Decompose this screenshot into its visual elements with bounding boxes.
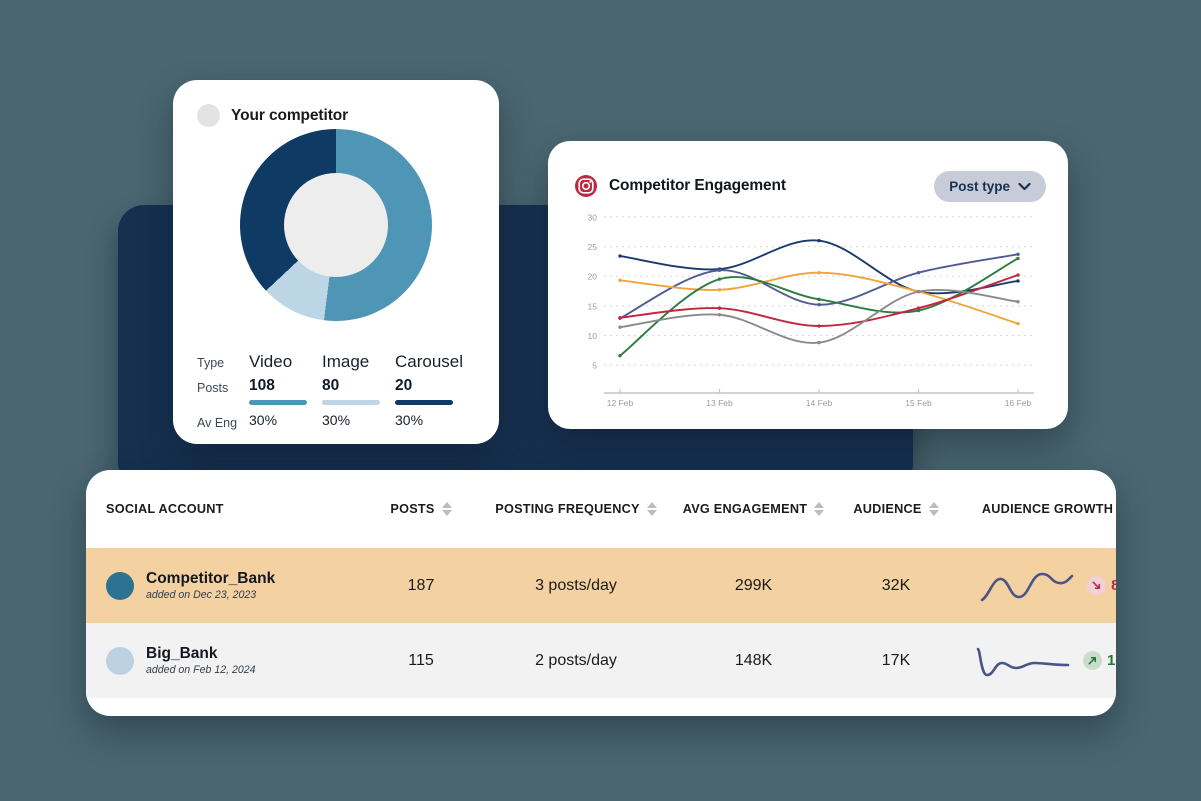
growth-value: 15% bbox=[1107, 652, 1116, 669]
stats-row-type: Type Video Image Carousel bbox=[197, 352, 479, 372]
cell-audience-growth: 15% bbox=[956, 623, 1116, 698]
svg-text:25: 25 bbox=[588, 242, 598, 252]
cell-posting-frequency: 3 posts/day bbox=[481, 548, 671, 623]
column-label-posts: POSTS bbox=[390, 502, 434, 516]
chart-title: Competitor Engagement bbox=[609, 177, 786, 195]
account-added-date: added on Dec 23, 2023 bbox=[146, 589, 275, 601]
stat-eng-carousel: 30% bbox=[395, 412, 468, 428]
stats-row-avg-engagement: Av Eng 30% 30% 30% bbox=[197, 412, 479, 430]
status-badge: 8% bbox=[1087, 576, 1116, 595]
svg-text:20: 20 bbox=[588, 272, 598, 282]
account-name: Competitor_Bank bbox=[146, 570, 275, 588]
table-body: Competitor_Bank added on Dec 23, 2023 18… bbox=[86, 548, 1116, 698]
svg-text:10: 10 bbox=[588, 331, 598, 341]
cell-avg-engagement: 299K bbox=[671, 548, 836, 623]
cell-audience: 17K bbox=[836, 623, 956, 698]
stat-posts-carousel: 20 bbox=[395, 377, 468, 395]
cell-social-account: Competitor_Bank added on Dec 23, 2023 bbox=[86, 548, 361, 623]
donut-card-title: Your competitor bbox=[231, 107, 348, 125]
account-added-date: added on Feb 12, 2024 bbox=[146, 664, 256, 676]
table-header-row: SOCIAL ACCOUNT POSTS POSTING FREQUENCY bbox=[86, 470, 1116, 548]
donut-center-hole bbox=[284, 173, 388, 277]
stat-bar-video bbox=[249, 400, 307, 405]
sparkline-chart bbox=[975, 641, 1071, 681]
svg-text:15: 15 bbox=[588, 301, 598, 311]
avatar-circle-icon bbox=[197, 104, 220, 127]
donut-card-header: Your competitor bbox=[197, 104, 348, 127]
svg-text:14 Feb: 14 Feb bbox=[806, 398, 833, 408]
svg-text:15 Feb: 15 Feb bbox=[905, 398, 932, 408]
stat-posts-image: 80 bbox=[322, 377, 395, 395]
column-header-audience-growth[interactable]: AUDIENCE GROWTH bbox=[956, 470, 1116, 548]
post-type-dropdown-label: Post type bbox=[949, 179, 1010, 194]
stat-eng-image: 30% bbox=[322, 412, 395, 428]
stat-type-video: Video bbox=[249, 352, 322, 372]
table-header: SOCIAL ACCOUNT POSTS POSTING FREQUENCY bbox=[86, 470, 1116, 548]
svg-text:16 Feb: 16 Feb bbox=[1005, 398, 1032, 408]
status-badge: 15% bbox=[1083, 651, 1116, 670]
avatar bbox=[106, 647, 134, 675]
cell-audience: 32K bbox=[836, 548, 956, 623]
stat-type-image: Image bbox=[322, 352, 395, 372]
svg-text:13 Feb: 13 Feb bbox=[706, 398, 733, 408]
sort-icon-posts[interactable] bbox=[442, 502, 452, 516]
cell-audience-growth: 8% bbox=[956, 548, 1116, 623]
sort-icon-avg-engagement[interactable] bbox=[814, 502, 824, 516]
svg-text:30: 30 bbox=[588, 212, 598, 222]
sparkline-chart bbox=[979, 566, 1075, 606]
column-label-audience-growth: AUDIENCE GROWTH bbox=[982, 502, 1113, 516]
stat-posts-video: 108 bbox=[249, 377, 322, 395]
table-row[interactable]: Big_Bank added on Feb 12, 2024 115 2 pos… bbox=[86, 623, 1116, 698]
competitor-engagement-card: Competitor Engagement Post type 51015202… bbox=[548, 141, 1068, 429]
social-accounts-table: SOCIAL ACCOUNT POSTS POSTING FREQUENCY bbox=[86, 470, 1116, 698]
column-label-social-account: SOCIAL ACCOUNT bbox=[106, 502, 224, 516]
cell-posts: 115 bbox=[361, 623, 481, 698]
column-header-posting-frequency[interactable]: POSTING FREQUENCY bbox=[481, 470, 671, 548]
svg-text:5: 5 bbox=[592, 361, 597, 371]
post-type-stats-table: Type Video Image Carousel Posts 108 80 2… bbox=[197, 352, 479, 432]
stat-type-carousel: Carousel bbox=[395, 352, 468, 372]
cell-posting-frequency: 2 posts/day bbox=[481, 623, 671, 698]
growth-value: 8% bbox=[1111, 577, 1116, 594]
social-accounts-table-card: SOCIAL ACCOUNT POSTS POSTING FREQUENCY bbox=[86, 470, 1116, 716]
arrow-up-right-icon bbox=[1083, 651, 1102, 670]
sort-icon-audience[interactable] bbox=[929, 502, 939, 516]
table-row[interactable]: Competitor_Bank added on Dec 23, 2023 18… bbox=[86, 548, 1116, 623]
column-label-audience: AUDIENCE bbox=[853, 502, 921, 516]
post-type-dropdown[interactable]: Post type bbox=[934, 171, 1046, 202]
dashboard-stage: Your competitor Type Video Image Carouse… bbox=[0, 0, 1201, 801]
column-label-posting-frequency: POSTING FREQUENCY bbox=[495, 502, 640, 516]
stat-eng-video: 30% bbox=[249, 412, 322, 428]
column-header-posts[interactable]: POSTS bbox=[361, 470, 481, 548]
stats-label-type: Type bbox=[197, 352, 249, 370]
stat-bar-image bbox=[322, 400, 380, 405]
column-header-social-account[interactable]: SOCIAL ACCOUNT bbox=[86, 470, 361, 548]
svg-text:12 Feb: 12 Feb bbox=[607, 398, 634, 408]
post-type-donut-chart bbox=[240, 129, 432, 321]
stat-bar-carousel bbox=[395, 400, 453, 405]
engagement-line-chart: 5101520253012 Feb13 Feb14 Feb15 Feb16 Fe… bbox=[570, 203, 1048, 411]
stats-label-av-eng: Av Eng bbox=[197, 412, 249, 430]
column-label-avg-engagement: AVG ENGAGEMENT bbox=[683, 502, 808, 516]
arrow-down-right-icon bbox=[1087, 576, 1106, 595]
cell-avg-engagement: 148K bbox=[671, 623, 836, 698]
column-header-avg-engagement[interactable]: AVG ENGAGEMENT bbox=[671, 470, 836, 548]
chart-card-header: Competitor Engagement Post type bbox=[574, 169, 1046, 203]
competitor-post-mix-card: Your competitor Type Video Image Carouse… bbox=[173, 80, 499, 444]
instagram-icon bbox=[574, 174, 598, 198]
cell-posts: 187 bbox=[361, 548, 481, 623]
chevron-down-icon bbox=[1018, 182, 1031, 191]
avatar bbox=[106, 572, 134, 600]
account-name: Big_Bank bbox=[146, 645, 256, 663]
cell-social-account: Big_Bank added on Feb 12, 2024 bbox=[86, 623, 361, 698]
sort-icon-posting-frequency[interactable] bbox=[647, 502, 657, 516]
stats-label-posts: Posts bbox=[197, 377, 249, 395]
column-header-audience[interactable]: AUDIENCE bbox=[836, 470, 956, 548]
line-chart-svg: 5101520253012 Feb13 Feb14 Feb15 Feb16 Fe… bbox=[570, 203, 1048, 411]
stats-row-posts: Posts 108 80 20 bbox=[197, 377, 479, 405]
